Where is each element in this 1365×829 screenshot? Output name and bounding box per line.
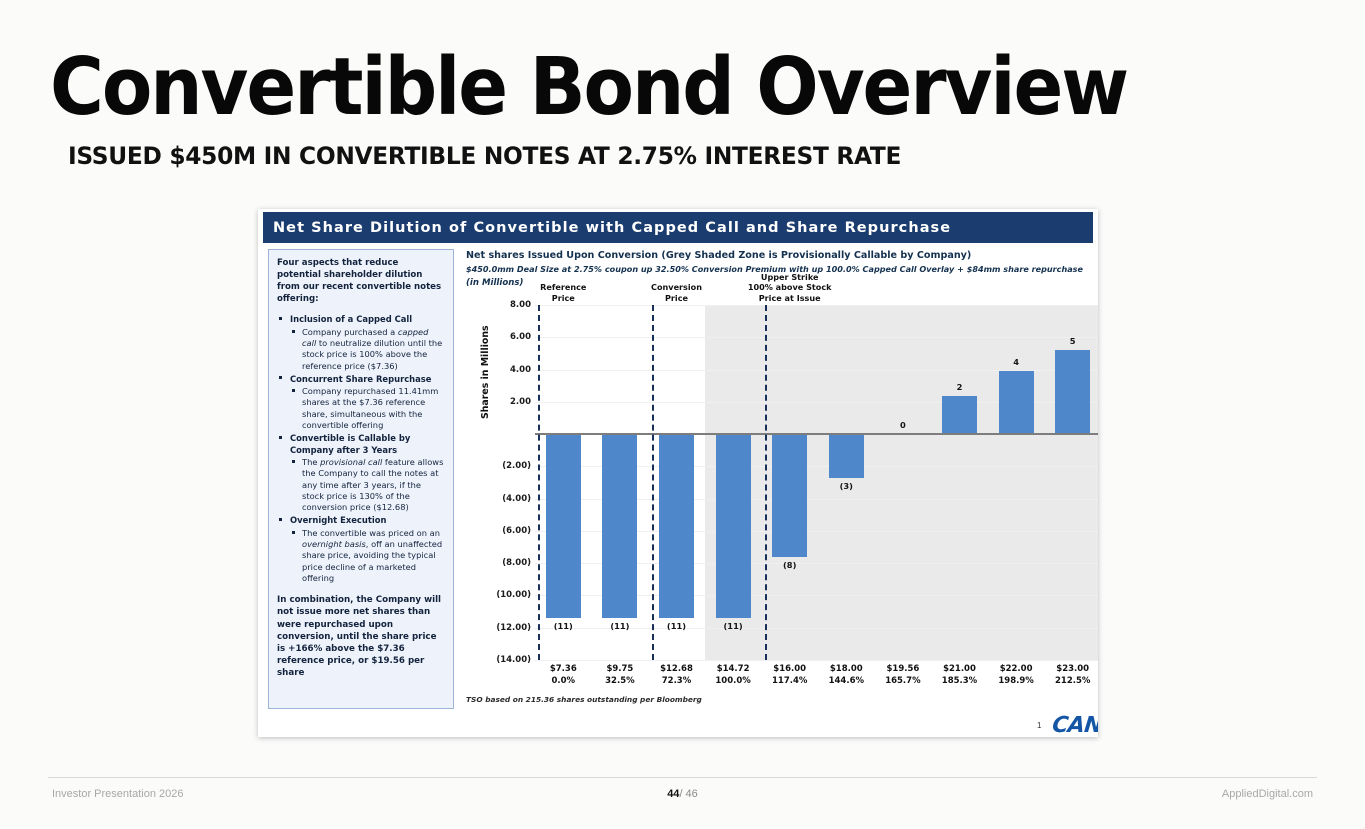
list-item: Inclusion of a Capped Call Company purch… xyxy=(277,314,445,371)
bullet-icon xyxy=(279,518,282,521)
x-tick: $19.56165.7% xyxy=(875,664,932,687)
bar[interactable] xyxy=(829,434,864,478)
marker-line xyxy=(538,305,540,660)
bar[interactable] xyxy=(659,434,694,618)
bar-label: (3) xyxy=(818,481,875,491)
bullet-icon xyxy=(279,317,282,320)
y-tick-left: (2.00) xyxy=(502,461,531,471)
bar[interactable] xyxy=(602,434,637,618)
chart-area: Net shares Issued Upon Conversion (Grey … xyxy=(462,249,1094,733)
y-tick-left: (8.00) xyxy=(502,558,531,568)
plot-region: (11)(11)(11)(11)(8)(3)0245 xyxy=(535,305,1098,660)
y-tick-left: (12.00) xyxy=(496,623,531,633)
gridline xyxy=(535,337,1098,338)
x-tick: $14.72100.0% xyxy=(705,664,762,687)
footer-right-text: AppliedDigital.com xyxy=(1222,788,1313,800)
commentary-intro: Four aspects that reduce potential share… xyxy=(277,257,445,305)
list-item-heading: Overnight Execution xyxy=(290,515,445,526)
footer-divider xyxy=(48,777,1317,778)
list-item-heading: Concurrent Share Repurchase xyxy=(290,374,445,385)
y-tick-left: 4.00 xyxy=(510,365,531,375)
list-item: The convertible was priced on an overnig… xyxy=(290,528,445,584)
marker-line xyxy=(765,305,767,660)
chart-title: Net shares Issued Upon Conversion (Grey … xyxy=(466,250,971,261)
y-tick-left: 2.00 xyxy=(510,397,531,407)
bar[interactable] xyxy=(772,434,807,557)
zero-axis-line xyxy=(535,433,1098,435)
x-tick: $16.00117.4% xyxy=(761,664,818,687)
list-item-text: The convertible was priced on an overnig… xyxy=(302,528,445,584)
bullet-icon xyxy=(292,389,295,392)
bar-label: 0 xyxy=(875,420,932,430)
bar-label: 5 xyxy=(1044,336,1098,346)
list-item-text: The provisional call feature allows the … xyxy=(302,457,445,513)
x-axis-ticks: $7.360.0%$9.7532.5%$12.6872.3%$14.72100.… xyxy=(535,664,1098,690)
list-item-text: Company repurchased 11.41mm shares at th… xyxy=(302,386,445,431)
list-item: Concurrent Share Repurchase Company repu… xyxy=(277,374,445,431)
bullet-icon xyxy=(279,376,282,379)
y-tick-left: (6.00) xyxy=(502,526,531,536)
gridline xyxy=(535,660,1098,661)
x-tick: $9.7532.5% xyxy=(592,664,649,687)
commentary-footer: In combination, the Company will not iss… xyxy=(277,594,445,679)
bar[interactable] xyxy=(716,434,751,618)
bar-label: 4 xyxy=(988,357,1045,367)
list-item-heading: Inclusion of a Capped Call xyxy=(290,314,445,325)
list-item: Company purchased a capped call to neutr… xyxy=(290,327,445,372)
bullet-icon xyxy=(292,460,295,463)
y-tick-left: 8.00 xyxy=(510,300,531,310)
bar-label: (11) xyxy=(592,621,649,631)
commentary-panel: Four aspects that reduce potential share… xyxy=(268,249,454,709)
commentary-sublist: The convertible was priced on an overnig… xyxy=(290,528,445,584)
x-tick: $18.00144.6% xyxy=(818,664,875,687)
footer-total-pages: / 46 xyxy=(679,788,697,800)
page-title: Convertible Bond Overview xyxy=(50,45,1127,129)
footer-page-indicator: 44/ 46 xyxy=(0,788,1365,800)
cantor-logo: CANTOR xyxy=(1048,713,1098,737)
source-note: TSO based on 215.36 shares outstanding p… xyxy=(466,695,702,704)
page-subtitle: ISSUED $450M IN CONVERTIBLE NOTES AT 2.7… xyxy=(68,142,901,170)
bar[interactable] xyxy=(1055,350,1090,434)
y-tick-left: (4.00) xyxy=(502,494,531,504)
bar-label: (11) xyxy=(535,621,592,631)
list-item-text: Company purchased a capped call to neutr… xyxy=(302,327,445,372)
list-item: The provisional call feature allows the … xyxy=(290,457,445,513)
footer-current-page: 44 xyxy=(667,788,679,800)
bar-label: 2 xyxy=(931,382,988,392)
y-tick-left: (14.00) xyxy=(496,655,531,665)
commentary-sublist: Company purchased a capped call to neutr… xyxy=(290,327,445,372)
commentary-list: Inclusion of a Capped Call Company purch… xyxy=(277,314,445,584)
x-tick: $21.00185.3% xyxy=(931,664,988,687)
list-item: Overnight Execution The convertible was … xyxy=(277,515,445,584)
bar[interactable] xyxy=(999,371,1034,434)
y-axis-left-ticks: 8.006.004.002.00(2.00)(4.00)(6.00)(8.00)… xyxy=(488,305,531,660)
x-tick: $22.00198.9% xyxy=(988,664,1045,687)
y-tick-left: (10.00) xyxy=(496,590,531,600)
y-tick-left: 6.00 xyxy=(510,332,531,342)
commentary-sublist: The provisional call feature allows the … xyxy=(290,457,445,513)
bullet-icon xyxy=(279,436,282,439)
annotation-upper-strike: Upper Strike100% above StockPrice at Iss… xyxy=(735,272,845,303)
bar-label: (11) xyxy=(648,621,705,631)
bullet-icon xyxy=(292,531,295,534)
annotation-conversion-price: ConversionPrice xyxy=(622,282,732,303)
x-tick: $12.6872.3% xyxy=(648,664,705,687)
x-tick: $23.00212.5% xyxy=(1044,664,1098,687)
list-item-heading: Convertible is Callable by Company after… xyxy=(290,433,445,456)
embedded-slide-card: Net Share Dilution of Convertible with C… xyxy=(258,209,1098,737)
gridline xyxy=(535,305,1098,306)
bar[interactable] xyxy=(546,434,581,618)
card-header-banner: Net Share Dilution of Convertible with C… xyxy=(263,212,1093,243)
card-page-number: 1 xyxy=(1037,721,1041,730)
marker-line xyxy=(652,305,654,660)
commentary-sublist: Company repurchased 11.41mm shares at th… xyxy=(290,386,445,431)
bar-label: (8) xyxy=(761,560,818,570)
logo-text: CANT xyxy=(1051,713,1098,737)
bullet-icon xyxy=(292,330,295,333)
x-tick: $7.360.0% xyxy=(535,664,592,687)
list-item: Company repurchased 11.41mm shares at th… xyxy=(290,386,445,431)
bar-label: (11) xyxy=(705,621,762,631)
list-item: Convertible is Callable by Company after… xyxy=(277,433,445,513)
bar[interactable] xyxy=(942,396,977,434)
